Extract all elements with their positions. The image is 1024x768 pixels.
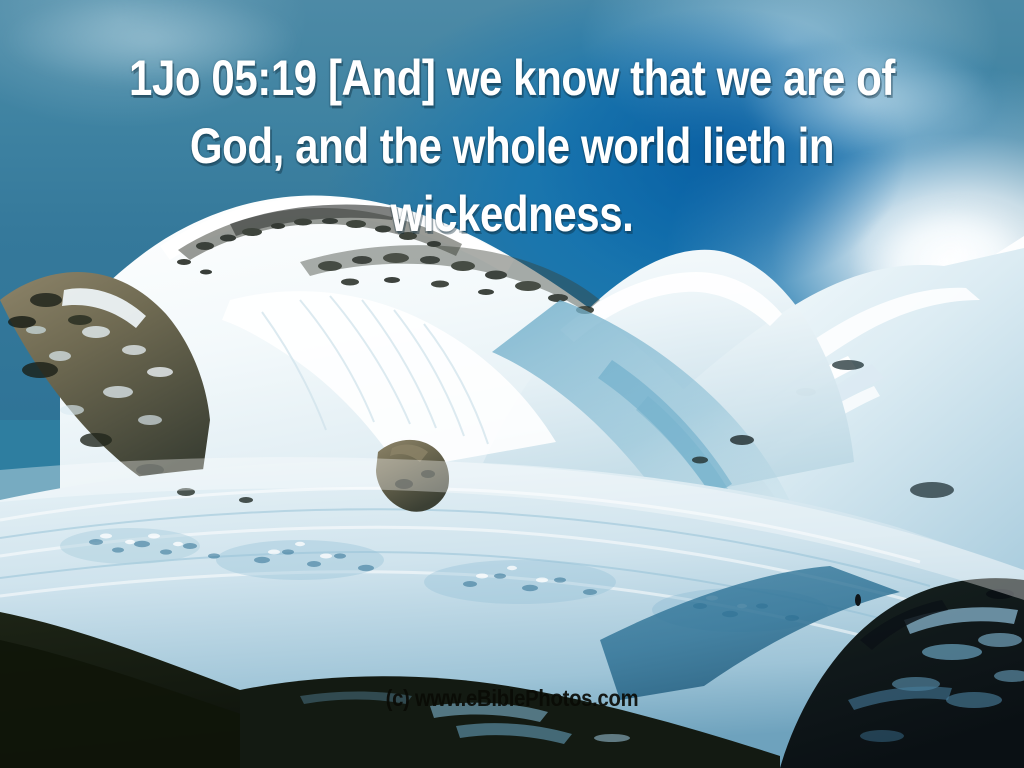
ridge-speck — [855, 594, 861, 606]
scripture-photo: 1Jo 05:19 [And] we know that we are of G… — [0, 0, 1024, 768]
mountain-landscape — [0, 0, 1024, 768]
